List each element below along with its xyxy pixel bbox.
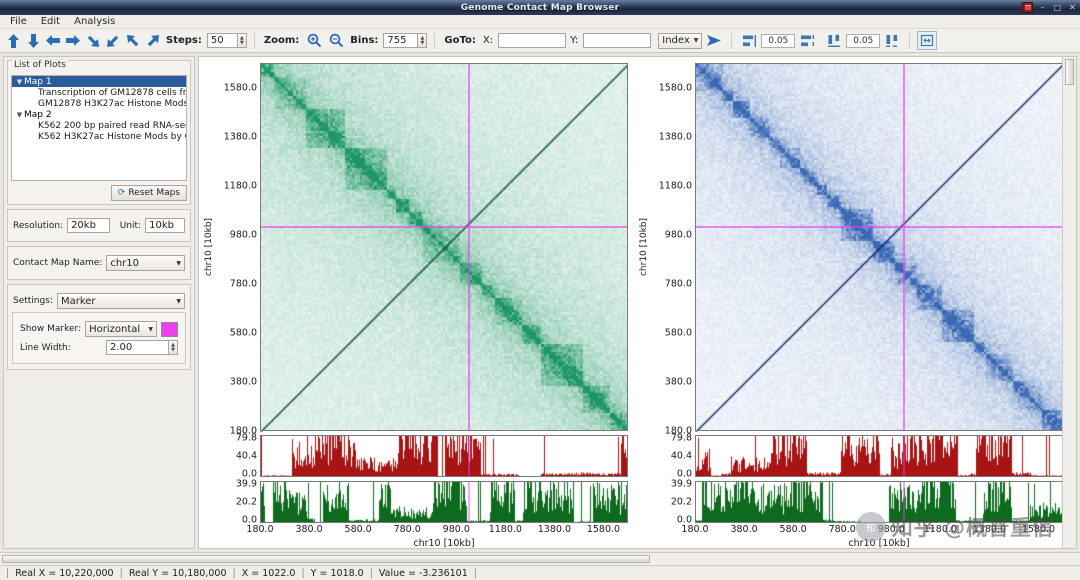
track-y-tick-label: 39.9: [671, 479, 692, 490]
y-axis-ticks: 180.0380.0580.0780.0980.01180.01380.0158…: [651, 63, 695, 431]
x-axis-ticks: 180.0380.0580.0780.0980.01180.01380.0158…: [260, 524, 628, 537]
contact-map-name-group: Contact Map Name: chr10 ▼: [7, 246, 191, 280]
chevron-down-icon: ▼: [176, 298, 181, 305]
track-spacer: [638, 435, 651, 477]
bins-label: Bins:: [350, 35, 378, 46]
x-tick-label: 980.0: [878, 524, 905, 535]
tree-item-map-1[interactable]: ▼ Map 1: [12, 76, 186, 87]
track-spacer: [638, 481, 651, 523]
chevron-down-icon: ▼: [694, 37, 699, 44]
plot-tree[interactable]: ▼ Map 1 Transcription of GM12878 cells f…: [11, 75, 187, 181]
settings-select[interactable]: Marker ▼: [57, 293, 185, 309]
heatmap-canvas-map-2[interactable]: [695, 63, 1062, 431]
track-spacer: [203, 435, 216, 477]
toolbar-separator-2: [434, 33, 435, 49]
settings-label: Settings:: [13, 296, 53, 306]
vertical-marker: [468, 482, 470, 522]
tree-item-map-2[interactable]: ▼ Map 2: [12, 109, 186, 120]
align-cols-icon[interactable]: [824, 31, 844, 50]
x-tick-label: 1380.0: [973, 524, 1006, 535]
bins-spin-arrows[interactable]: ▲▼: [417, 33, 427, 48]
plot-scroll-viewport: chr10 [10kb]180.0380.0580.0780.0980.0118…: [199, 57, 1062, 548]
track-y-tick-label: 20.2: [671, 496, 692, 507]
y-tick-label: 980.0: [665, 229, 692, 240]
track-y-tick-label: 39.9: [236, 479, 257, 490]
window-controls: – □ ✕: [1022, 0, 1078, 15]
pan-down-left-button[interactable]: [104, 32, 122, 50]
align-rows-alt-icon[interactable]: [797, 31, 817, 50]
track-y-ticks: 0.020.239.9: [651, 481, 695, 523]
goto-label: GoTo:: [444, 35, 475, 46]
resolution-input[interactable]: 20kb: [67, 218, 110, 233]
minimize-button[interactable]: –: [1037, 2, 1048, 13]
show-marker-select[interactable]: Horizontal and Vertical ▼: [85, 321, 157, 337]
pan-up-right-button[interactable]: [144, 32, 162, 50]
pan-left-button[interactable]: [44, 32, 62, 50]
y-tick-label: 1380.0: [224, 131, 257, 142]
x-axis-ticks: 180.0380.0580.0780.0980.01180.01380.0158…: [695, 524, 1062, 537]
y-axis-label: chr10 [10kb]: [638, 63, 651, 431]
expand-collapse-icon[interactable]: ▼: [15, 111, 24, 119]
y-tick-label: 1380.0: [659, 131, 692, 142]
y-tick-label: 380.0: [230, 376, 257, 387]
menu-file[interactable]: File: [4, 15, 33, 28]
x-tick-label: 180.0: [681, 524, 708, 535]
track-row: 0.020.239.9: [638, 481, 1062, 523]
zoom-label: Zoom:: [264, 35, 299, 46]
steps-label: Steps:: [166, 35, 202, 46]
tree-item-map1-track1[interactable]: Transcription of GM12878 cells from ENC.…: [12, 87, 186, 98]
align-rows-icon[interactable]: [739, 31, 759, 50]
steps-spin-arrows[interactable]: ▲▼: [237, 33, 247, 48]
settings-value: Marker: [61, 296, 172, 307]
heatmap-row: chr10 [10kb]180.0380.0580.0780.0980.0118…: [203, 63, 628, 431]
tree-item-label: Transcription of GM12878 cells from ENC.…: [38, 88, 187, 98]
resolution-label: Resolution:: [13, 221, 63, 231]
menu-bar: File Edit Analysis: [0, 15, 1080, 29]
heatmap-image[interactable]: [696, 64, 1062, 431]
line-width-spin-arrows[interactable]: ▲▼: [168, 340, 178, 355]
y-tick-label: 1580.0: [224, 82, 257, 93]
vertical-marker: [903, 482, 905, 522]
show-marker-value: Horizontal and Vertical: [89, 324, 144, 335]
x-tick-label: 1380.0: [538, 524, 571, 535]
track-y-tick-label: 79.8: [671, 433, 692, 444]
horizontal-marker: [261, 226, 627, 228]
plot-area: chr10 [10kb]180.0380.0580.0780.0980.0118…: [198, 56, 1077, 549]
x-tick-label: 780.0: [394, 524, 421, 535]
expand-collapse-icon[interactable]: ▼: [15, 78, 24, 86]
list-of-plots-title: List of Plots: [12, 60, 68, 70]
x-tick-label: 1180.0: [489, 524, 522, 535]
line-width-row: Line Width: 2.00 ▲▼: [20, 340, 178, 355]
status-value: Value = -3.236101: [373, 568, 474, 579]
go-button[interactable]: [704, 31, 724, 50]
signal-track-plot: [261, 482, 628, 522]
align-value-1[interactable]: 0.05: [761, 34, 795, 48]
track-row: 0.040.479.8: [638, 435, 1062, 477]
x-tick-label: 580.0: [780, 524, 807, 535]
vertical-marker: [468, 64, 470, 430]
heatmap-canvas-map-1[interactable]: [260, 63, 628, 431]
contact-map-name-label: Contact Map Name:: [13, 258, 102, 268]
reset-maps-label: Reset Maps: [128, 188, 180, 198]
plot-map-1: chr10 [10kb]180.0380.0580.0780.0980.0118…: [203, 63, 628, 548]
vertical-marker: [468, 436, 470, 476]
signal-track-map-1-1[interactable]: [260, 481, 628, 523]
menu-edit[interactable]: Edit: [35, 15, 66, 28]
vertical-marker: [903, 64, 905, 430]
x-tick-label: 1580.0: [1022, 524, 1055, 535]
title-bar: Genome Contact Map Browser – □ ✕: [0, 0, 1080, 15]
vertical-scrollbar-thumb[interactable]: [1065, 59, 1074, 85]
show-marker-row: Show Marker: Horizontal and Vertical ▼: [20, 321, 178, 337]
pan-down-button[interactable]: [24, 32, 42, 50]
x-tick-label: 980.0: [443, 524, 470, 535]
show-marker-label: Show Marker:: [20, 324, 81, 334]
vertical-marker: [903, 436, 905, 476]
x-axis-row: 180.0380.0580.0780.0980.01180.01380.0158…: [695, 523, 1062, 548]
status-y: Y = 1018.0: [305, 568, 370, 579]
align-value-2[interactable]: 0.05: [846, 34, 880, 48]
resolution-row: Resolution: 20kb Unit: 10kb: [13, 218, 185, 233]
zoom-out-icon[interactable]: [326, 31, 346, 50]
x-tick-label: 580.0: [345, 524, 372, 535]
x-axis-row: 180.0380.0580.0780.0980.01180.01380.0158…: [260, 523, 628, 548]
y-tick-label: 1580.0: [659, 82, 692, 93]
x-tick-label: 380.0: [295, 524, 322, 535]
tree-item-label: Map 2: [24, 110, 52, 120]
pan-down-right-button[interactable]: [84, 32, 102, 50]
unit-input[interactable]: 10kb: [145, 218, 185, 233]
signal-track-map-1-0[interactable]: [260, 435, 628, 477]
steps-stepper[interactable]: 50 ▲▼: [207, 33, 247, 48]
goto-x-label: X:: [483, 35, 493, 46]
track-row: 0.040.479.8: [203, 435, 628, 477]
status-real-x: Real X = 10,220,000: [9, 568, 119, 579]
signal-track-plot: [696, 482, 1062, 522]
y-tick-label: 1180.0: [659, 180, 692, 191]
x-tick-label: 780.0: [829, 524, 856, 535]
bins-stepper[interactable]: 755 ▲▼: [383, 33, 427, 48]
x-tick-label: 1180.0: [924, 524, 957, 535]
line-width-stepper[interactable]: 2.00 ▲▼: [106, 340, 178, 355]
index-select[interactable]: Index ▼: [658, 33, 702, 49]
tree-item-label: K562 200 bp paired read RNA-seq Signal .…: [38, 121, 187, 131]
contact-map-name-select[interactable]: chr10 ▼: [106, 255, 185, 271]
status-bar: | Real X = 10,220,000 | Real Y = 10,180,…: [0, 565, 1080, 580]
heatmap-image[interactable]: [261, 64, 628, 431]
reset-row: ⟳ Reset Maps: [11, 185, 187, 201]
vertical-scrollbar[interactable]: [1062, 57, 1076, 548]
horizontal-marker: [696, 226, 1062, 228]
signal-track-map-2-0[interactable]: [695, 435, 1062, 477]
track-spacer: [203, 481, 216, 523]
toolbar: Steps: 50 ▲▼ Zoom: Bins: 755 ▲▼ GoTo: X:…: [0, 29, 1080, 53]
fit-to-window-icon[interactable]: [917, 31, 937, 50]
refresh-icon: ⟳: [118, 188, 126, 198]
toolbar-separator-4: [909, 33, 910, 49]
list-of-plots-group: List of Plots ▼ Map 1 Transcription of G…: [7, 60, 191, 205]
signal-track-plot: [696, 436, 1062, 476]
y-tick-label: 980.0: [230, 229, 257, 240]
track-y-tick-label: 40.4: [236, 450, 257, 461]
goto-x-input[interactable]: [498, 33, 566, 48]
menu-analysis[interactable]: Analysis: [68, 15, 121, 28]
marker-color-swatch[interactable]: [161, 322, 178, 337]
track-y-tick-label: 40.4: [671, 450, 692, 461]
contact-map-name-row: Contact Map Name: chr10 ▼: [13, 255, 185, 271]
settings-row: Settings: Marker ▼: [13, 293, 185, 309]
steps-input[interactable]: 50: [207, 33, 237, 48]
goto-y-label: Y:: [570, 35, 578, 46]
tree-item-label: Map 1: [24, 77, 52, 87]
x-tick-label: 180.0: [246, 524, 273, 535]
track-y-ticks: 0.020.239.9: [216, 481, 260, 523]
status-real-y: Real Y = 10,180,000: [123, 568, 233, 579]
pan-right-button[interactable]: [64, 32, 82, 50]
sidebar: List of Plots ▼ Map 1 Transcription of G…: [3, 56, 195, 549]
track-y-ticks: 0.040.479.8: [216, 435, 260, 477]
horizontal-scrollbar-thumb[interactable]: [2, 555, 650, 563]
reset-maps-button[interactable]: ⟳ Reset Maps: [111, 185, 187, 201]
y-tick-label: 380.0: [665, 376, 692, 387]
y-axis-ticks: 180.0380.0580.0780.0980.01180.01380.0158…: [216, 63, 260, 431]
toolbar-separator-3: [731, 33, 732, 49]
close-button[interactable]: ✕: [1067, 2, 1078, 13]
x-tick-label: 1580.0: [587, 524, 620, 535]
application-window: Genome Contact Map Browser – □ ✕ File Ed…: [0, 0, 1080, 580]
resolution-group: Resolution: 20kb Unit: 10kb: [7, 209, 191, 242]
goto-y-input[interactable]: [583, 33, 651, 48]
unit-label: Unit:: [120, 221, 141, 231]
heatmap-row: chr10 [10kb]180.0380.0580.0780.0980.0118…: [638, 63, 1062, 431]
contact-map-name-value: chr10: [110, 258, 172, 269]
zoom-in-icon[interactable]: [304, 31, 324, 50]
status-x: X = 1022.0: [236, 568, 302, 579]
track-row: 0.020.239.9: [203, 481, 628, 523]
status-separator: |: [474, 568, 477, 579]
main-body: List of Plots ▼ Map 1 Transcription of G…: [0, 53, 1080, 552]
signal-track-map-2-1[interactable]: [695, 481, 1062, 523]
chevron-down-icon: ▼: [148, 326, 153, 333]
y-tick-label: 780.0: [230, 278, 257, 289]
settings-group: Settings: Marker ▼ Show Marker: Horizont…: [7, 284, 191, 370]
index-select-value: Index: [662, 35, 690, 46]
pan-up-button[interactable]: [4, 32, 22, 50]
y-tick-label: 780.0: [665, 278, 692, 289]
y-tick-label: 1180.0: [224, 180, 257, 191]
track-y-tick-label: 20.2: [236, 496, 257, 507]
app-icon: [1022, 2, 1033, 13]
y-tick-label: 580.0: [230, 327, 257, 338]
tree-item-map1-track2[interactable]: GM12878 H3K27ac Histone Mods by ChIP...: [12, 98, 186, 109]
line-width-input[interactable]: 2.00: [106, 340, 168, 355]
tree-item-label: K562 H3K27ac Histone Mods by ChIP-seq...: [38, 132, 187, 142]
window-title: Genome Contact Map Browser: [461, 3, 620, 13]
chevron-down-icon: ▼: [176, 260, 181, 267]
maximize-button[interactable]: □: [1052, 2, 1063, 13]
x-axis-label: chr10 [10kb]: [260, 538, 628, 548]
y-tick-label: 580.0: [665, 327, 692, 338]
plot-map-2: chr10 [10kb]180.0380.0580.0780.0980.0118…: [638, 63, 1062, 548]
track-y-tick-label: 79.8: [236, 433, 257, 444]
tree-item-map2-track2[interactable]: K562 H3K27ac Histone Mods by ChIP-seq...: [12, 131, 186, 142]
track-y-ticks: 0.040.479.8: [651, 435, 695, 477]
signal-track-plot: [261, 436, 628, 476]
bins-input[interactable]: 755: [383, 33, 417, 48]
horizontal-scrollbar[interactable]: [0, 552, 1080, 565]
y-axis-label: chr10 [10kb]: [203, 63, 216, 431]
tree-item-map2-track1[interactable]: K562 200 bp paired read RNA-seq Signal .…: [12, 120, 186, 131]
x-axis-label: chr10 [10kb]: [695, 538, 1062, 548]
x-tick-label: 380.0: [730, 524, 757, 535]
toolbar-separator: [254, 33, 255, 49]
tree-item-label: GM12878 H3K27ac Histone Mods by ChIP...: [38, 99, 187, 109]
marker-settings-panel: Show Marker: Horizontal and Vertical ▼ L…: [12, 312, 186, 364]
line-width-label: Line Width:: [20, 343, 71, 353]
pan-up-left-button[interactable]: [124, 32, 142, 50]
plots-container: chr10 [10kb]180.0380.0580.0780.0980.0118…: [199, 57, 1062, 548]
align-cols-alt-icon[interactable]: [882, 31, 902, 50]
